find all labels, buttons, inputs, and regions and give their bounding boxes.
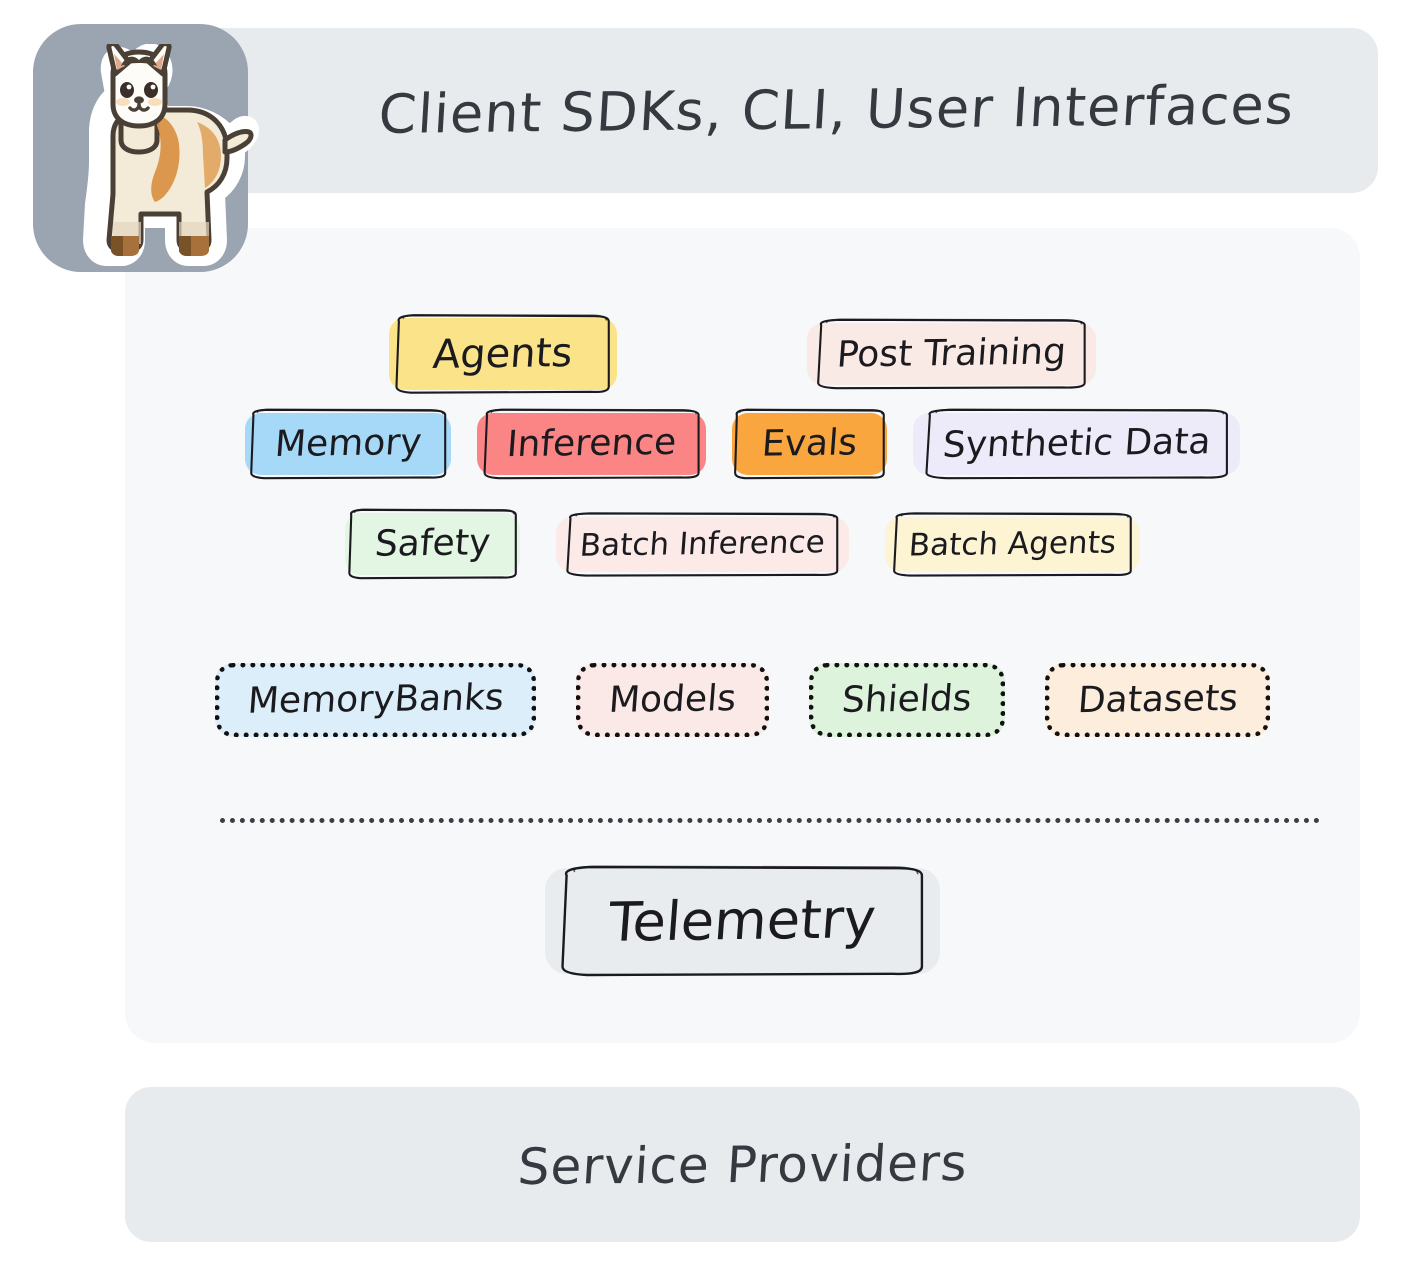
resource-label: Datasets [1076,681,1239,719]
api-label: Inference [506,425,678,463]
dotted-divider [220,818,1320,823]
resource-box-datasets[interactable]: Datasets [1045,663,1271,737]
resource-box-shields[interactable]: Shields [809,663,1004,737]
api-box-safety[interactable]: Safety [345,513,520,575]
api-label: Batch Inference [579,527,826,561]
api-label: Safety [374,525,492,563]
api-label: Synthetic Data [942,424,1212,464]
api-label: Evals [761,425,859,462]
row-core-apis: Memory Inference Evals [125,413,1360,475]
api-box-inference[interactable]: Inference [477,413,706,475]
api-box-agents[interactable]: Agents [389,318,616,390]
api-box-batch-agents[interactable]: Batch Agents [885,517,1140,572]
main-panel: Agents Post Training Memor [125,228,1360,1043]
row-resources: MemoryBanks Models Shields Datasets [125,663,1360,737]
resource-label: MemoryBanks [246,680,505,720]
api-label: Agents [432,333,574,375]
footer-bar: Service Providers [125,1087,1360,1242]
telemetry-row: Telemetry [125,868,1360,974]
diagram-canvas: Client SDKs, CLI, User Interfaces [0,0,1410,1268]
api-box-batch-inference[interactable]: Batch Inference [556,517,849,572]
api-label: Post Training [835,334,1067,373]
resource-label: Shields [841,681,973,719]
footer-title: Service Providers [516,1134,969,1196]
resource-box-models[interactable]: Models [576,663,769,737]
telemetry-box[interactable]: Telemetry [545,868,939,974]
resource-label: Models [608,681,738,719]
api-label: Memory [273,425,422,463]
api-label: Batch Agents [908,527,1117,561]
telemetry-label: Telemetry [607,892,878,950]
llama-logo-icon [69,44,259,274]
api-box-memory[interactable]: Memory [245,413,451,475]
header-bar: Client SDKs, CLI, User Interfaces [125,28,1378,193]
row-agents: Agents Post Training [125,318,1360,390]
api-box-post-training[interactable]: Post Training [807,323,1096,385]
api-box-evals[interactable]: Evals [732,413,887,475]
resource-box-memorybanks[interactable]: MemoryBanks [215,663,537,737]
row-secondary-apis: Safety Batch Inference Batch Agents [125,513,1360,575]
api-box-synthetic-data[interactable]: Synthetic Data [913,413,1240,475]
logo-tile [33,24,248,272]
page-title: Client SDKs, CLI, User Interfaces [207,73,1297,147]
